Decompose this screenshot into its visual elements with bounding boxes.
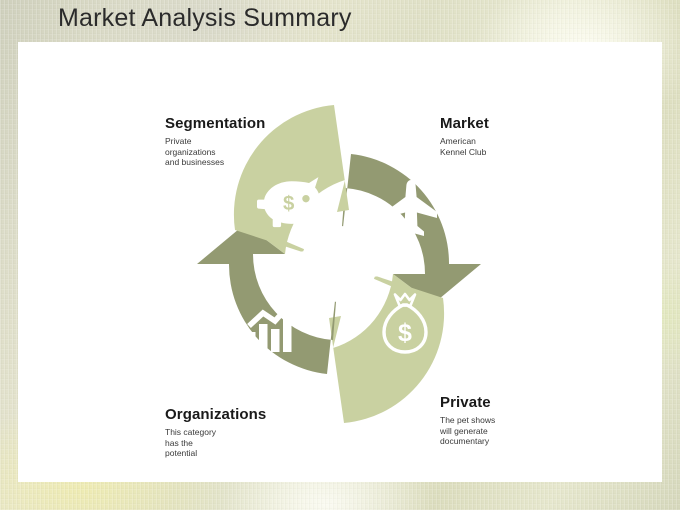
svg-text:$: $ bbox=[398, 319, 412, 347]
label-block-private[interactable]: Private The pet shows will generate docu… bbox=[440, 394, 495, 447]
label-block-organizations[interactable]: Organizations This category has the pote… bbox=[165, 406, 266, 459]
segment-title-organizations: Organizations bbox=[165, 406, 266, 423]
slide-content-panel: $ $ Segmentation bbox=[18, 42, 662, 482]
segment-description-market: American Kennel Club bbox=[440, 136, 489, 157]
label-block-market[interactable]: Market American Kennel Club bbox=[440, 115, 489, 157]
segment-title-segmentation: Segmentation bbox=[165, 115, 265, 132]
svg-text:$: $ bbox=[283, 193, 295, 215]
segment-description-segmentation: Private organizations and businesses bbox=[165, 136, 265, 168]
segment-title-private: Private bbox=[440, 394, 495, 411]
segment-description-private: The pet shows will generate documentary bbox=[440, 415, 495, 447]
segment-organizations[interactable] bbox=[197, 224, 339, 374]
segment-title-market: Market bbox=[440, 115, 489, 132]
page-title: Market Analysis Summary bbox=[58, 4, 352, 33]
segment-description-organizations: This category has the potential bbox=[165, 427, 266, 459]
label-block-segmentation[interactable]: Segmentation Private organizations and b… bbox=[165, 115, 265, 168]
